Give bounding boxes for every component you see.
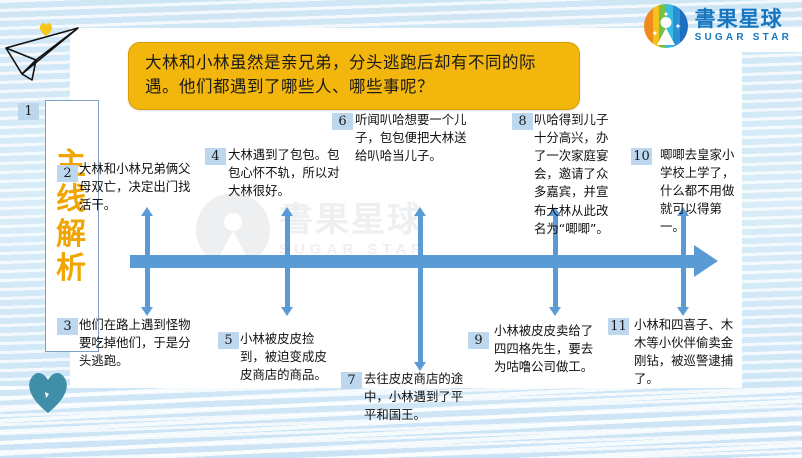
badge-2: 2 xyxy=(57,165,78,182)
badge-1: 1 xyxy=(18,103,39,120)
event-text-10: 唧唧去皇家小学校上学了，什么都不用做就可以得第一。 xyxy=(660,146,744,237)
sugar-star-logo-icon: ✦ ✦ ✦ xyxy=(644,4,688,48)
connector-11 xyxy=(681,268,686,308)
event-text-8: 叭哈得到儿子十分高兴，办了一次家庭宴会，邀请了众多嘉宾，并宣布大林从此改名为“唧… xyxy=(534,111,616,238)
event-text-11: 小林和四喜子、木木等小伙伴偷卖金刚钻，被巡警逮捕了。 xyxy=(634,316,742,388)
yellow-heart-icon xyxy=(38,22,54,37)
badge-8: 8 xyxy=(512,113,533,130)
badge-7: 7 xyxy=(341,372,362,389)
timeline-bar xyxy=(130,255,695,268)
event-text-7: 去往皮皮商店的途中，小林遇到了平平和国王。 xyxy=(364,370,464,424)
brand-name-en: SUGAR STAR xyxy=(695,33,792,43)
brand-logo: ✦ ✦ ✦ 書果星球 SUGAR STAR xyxy=(644,4,792,48)
badge-10: 10 xyxy=(631,148,652,165)
badge-6: 6 xyxy=(332,113,353,130)
question-banner: 大林和小林虽然是亲兄弟，分头逃跑后却有不同的际遇。他们都遇到了哪些人、哪些事呢？ xyxy=(128,42,580,110)
event-text-9: 小林被皮皮卖给了四四格先生，要去为咕噜公司做工。 xyxy=(494,322,594,376)
connector-5 xyxy=(285,268,290,308)
connector-3 xyxy=(145,268,150,308)
badge-5: 5 xyxy=(218,332,239,349)
connector-6 xyxy=(418,215,423,255)
connector-2 xyxy=(145,215,150,255)
event-text-4: 大林遇到了包包。包包心怀不轨，所以对大林很好。 xyxy=(228,146,344,200)
event-text-3: 他们在路上遇到怪物要吃掉他们，于是分头逃跑。 xyxy=(79,316,191,370)
badge-4: 4 xyxy=(205,148,226,165)
sidebar-title-char-3: 析 xyxy=(46,252,96,287)
event-text-2: 大林和小林兄弟俩父母双亡，决定出门找活干。 xyxy=(79,160,197,214)
event-text-6: 听闻叭哈想要一个儿子，包包便把大林送给叭哈当儿子。 xyxy=(355,111,475,165)
badge-11: 11 xyxy=(608,318,629,335)
connector-7 xyxy=(418,268,423,363)
badge-9: 9 xyxy=(468,332,489,349)
badge-3: 3 xyxy=(57,318,78,335)
slide-canvas: ✦ ✦ ✦ 書果星球 SUGAR STAR 書果星球 SUGAR STAR 大林… xyxy=(0,0,802,458)
connector-9 xyxy=(553,268,558,308)
teal-heart-icon xyxy=(25,368,71,414)
brand-name-cn: 書果星球 xyxy=(695,9,792,30)
event-text-5: 小林被皮皮捡到，被迫变成皮皮商店的商品。 xyxy=(240,330,338,384)
question-banner-text: 大林和小林虽然是亲兄弟，分头逃跑后却有不同的际遇。他们都遇到了哪些人、哪些事呢？ xyxy=(145,51,563,99)
sidebar-title-char-2: 解 xyxy=(46,218,96,253)
connector-4 xyxy=(285,215,290,255)
timeline-arrow-icon xyxy=(694,245,718,277)
